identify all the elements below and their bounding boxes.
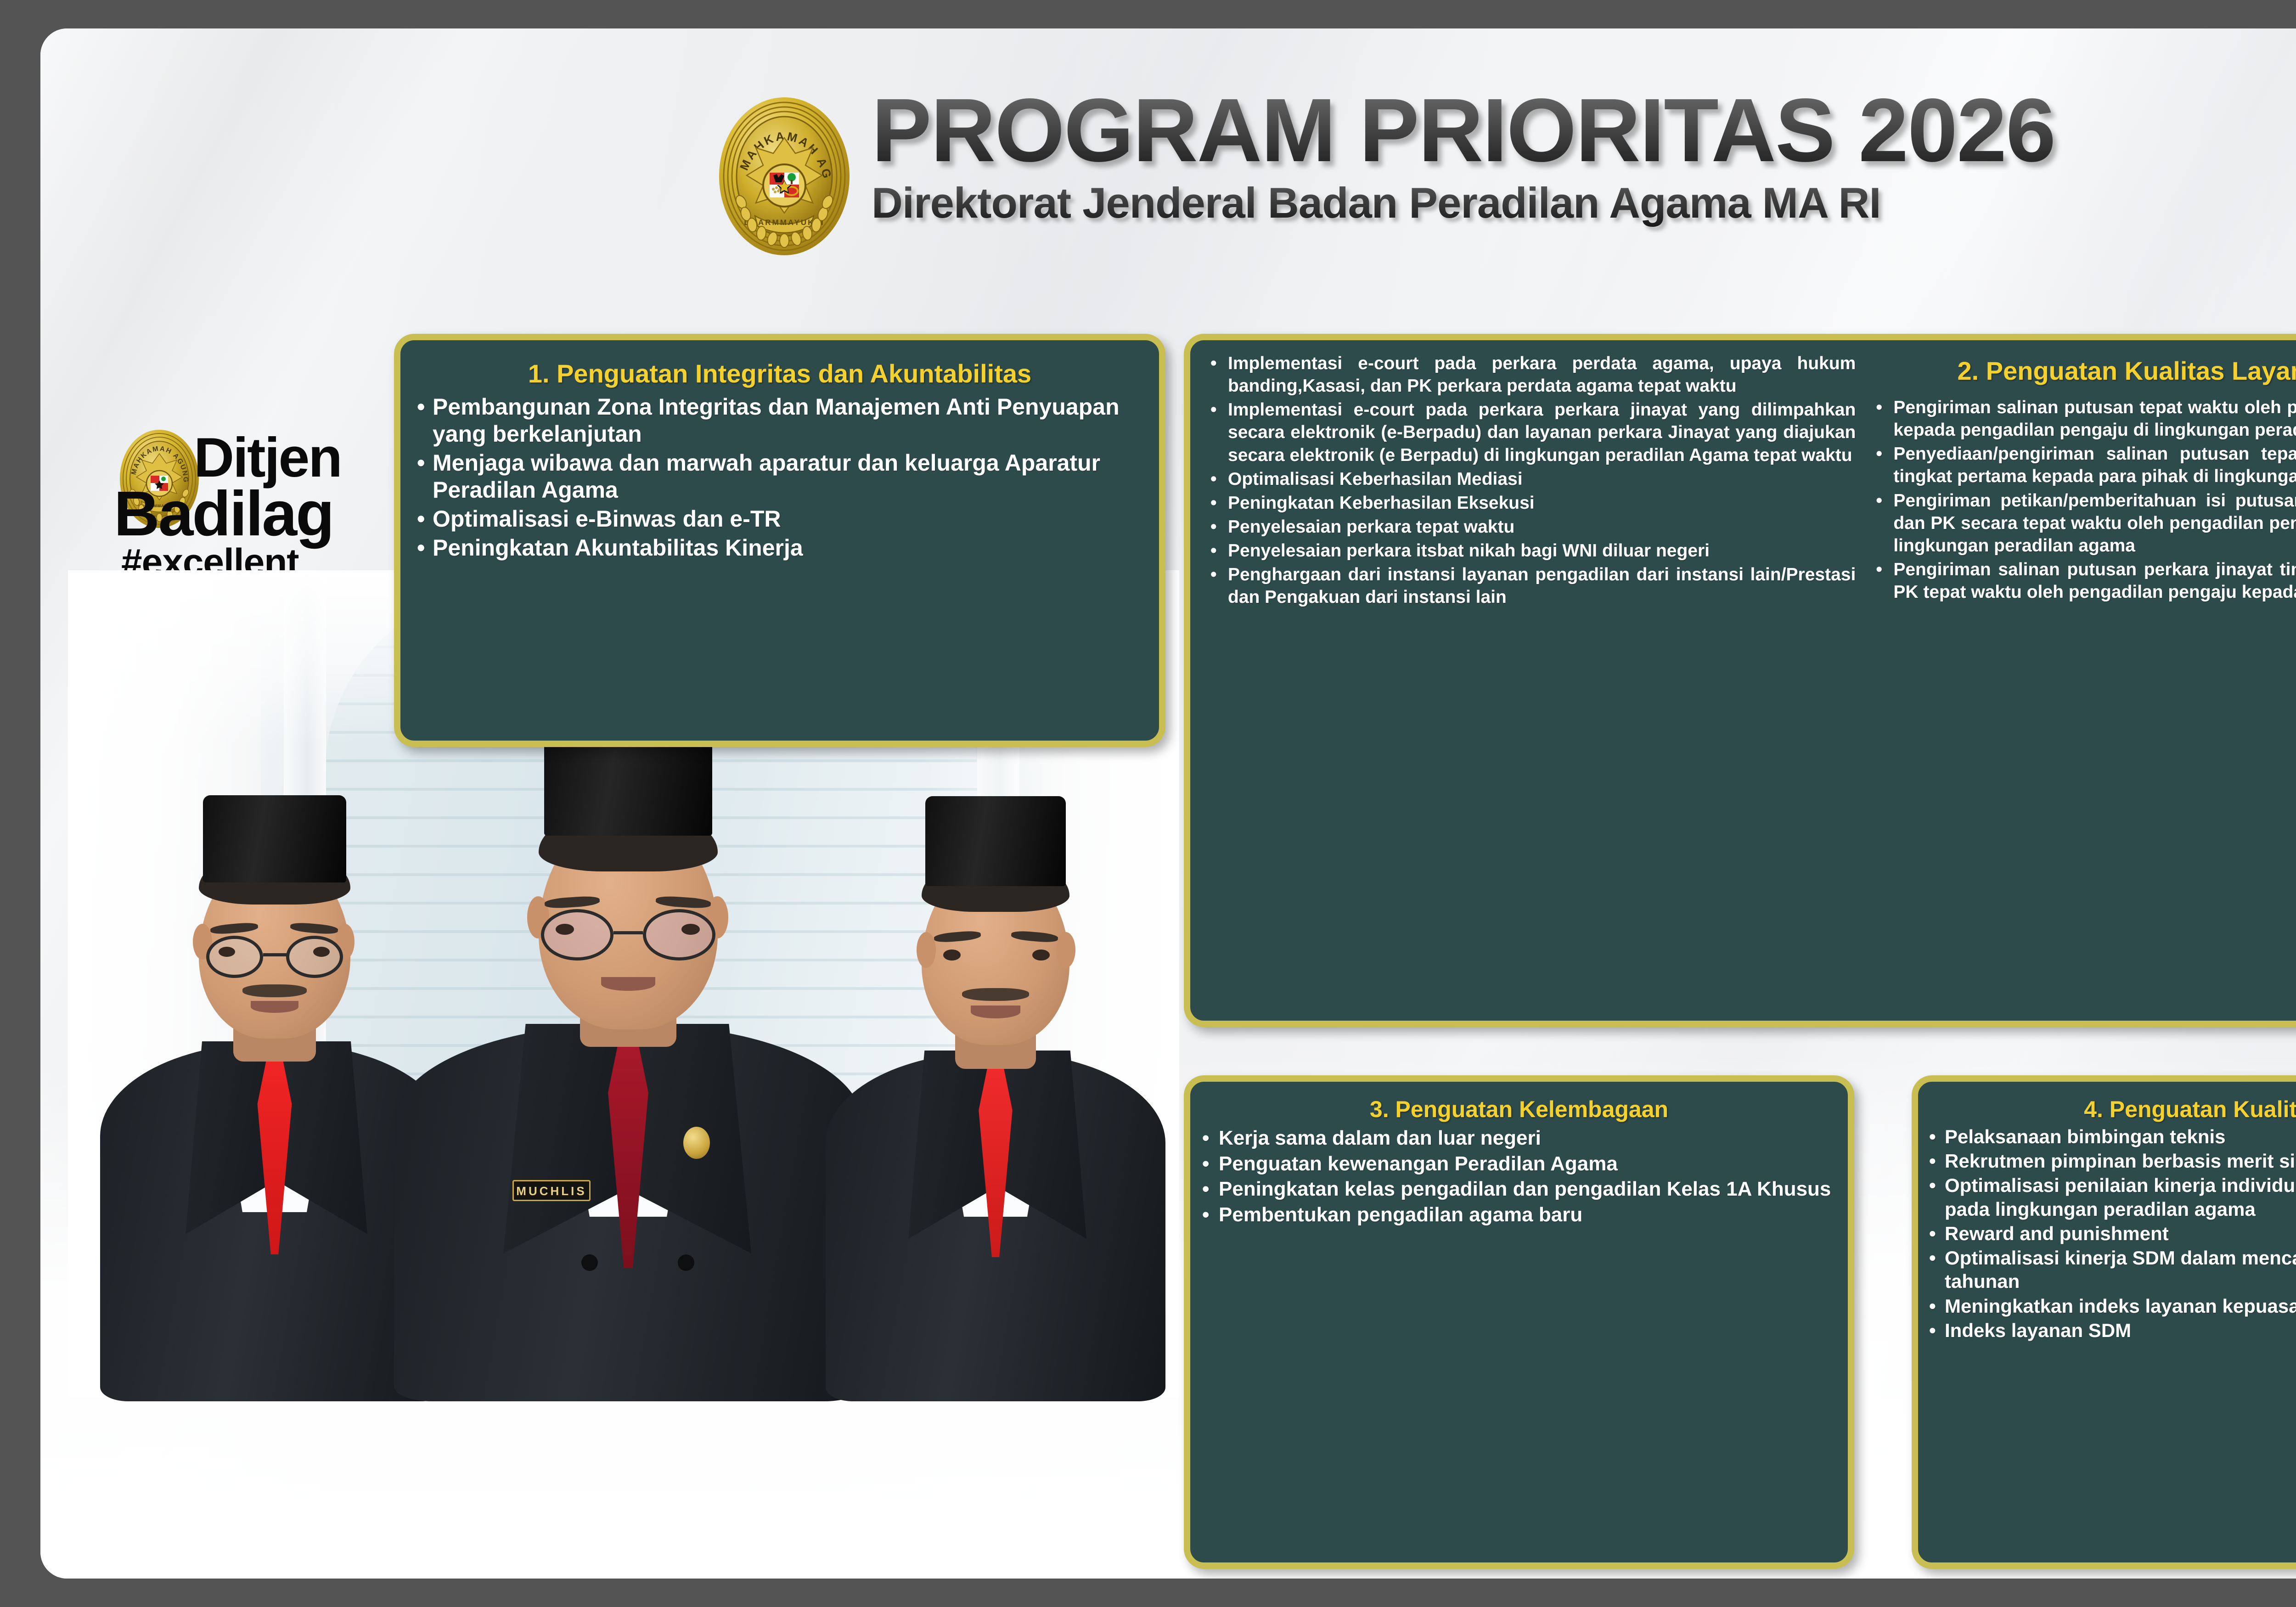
card-2-column-2: Pengiriman salinan putusan tepat waktu o… [1871,352,2296,1011]
header-text-block: PROGRAM PRIORITAS 2026 Direktorat Jender… [872,84,2055,228]
badilag-logo-line-1: Ditjen [194,433,341,482]
card-1-title: 1. Penguatan Integritas dan Akuntabilita… [411,360,1148,387]
nameplate: MUCHLIS [512,1180,591,1201]
card-3-title: 3. Penguatan Kelembagaan [1199,1097,1839,1121]
card-2-bullet-list-1: Implementasi e-court pada perkara perdat… [1228,352,1856,608]
list-item: Optimalisasi Keberhasilan Mediasi [1228,468,1856,490]
list-item: Pelaksanaan bimbingan teknis [1945,1125,2296,1148]
program-card-3[interactable]: 3. Penguatan Kelembagaan Kerja sama dala… [1184,1075,1854,1569]
list-item: Peningkatan Keberhasilan Eksekusi [1228,492,1856,514]
program-card-4[interactable]: 4. Penguatan Kualitas SDM Pelaksanaan bi… [1912,1075,2296,1569]
badilag-logo-line-2: Badilag [114,487,333,541]
program-card-1[interactable]: 1. Penguatan Integritas dan Akuntabilita… [394,334,1165,747]
list-item: Pengiriman salinan putusan perkara jinay… [1893,558,2296,603]
page-title: PROGRAM PRIORITAS 2026 [872,86,2055,174]
list-item: Optimalisasi kinerja SDM dalam mencapai … [1945,1246,2296,1293]
list-item: Menjaga wibawa dan marwah aparatur dan k… [433,450,1143,504]
list-item: Optimalisasi penilaian kinerja individu … [1945,1174,2296,1220]
list-item: Pengiriman petikan/pemberitahuan isi put… [1893,489,2296,557]
card-3-bullet-list: Kerja sama dalam dan luar negeri Penguat… [1219,1126,1836,1227]
page-subtitle: Direktorat Jenderal Badan Peradilan Agam… [872,178,2055,228]
poster-outer-frame: MAHKAMAH AGUNG [0,0,2296,1607]
list-item: Pembentukan pengadilan agama baru [1219,1202,1836,1227]
mahkamah-agung-emblem-icon: MAHKAMAH AGUNG [715,94,853,259]
list-item: Penghargaan dari instansi layanan pengad… [1228,563,1856,608]
card-1-bullet-list: Pembangunan Zona Integritas dan Manajeme… [433,393,1143,562]
card-4-title: 4. Penguatan Kualitas SDM [1927,1097,2296,1121]
list-item: Penyelesaian perkara itsbat nikah bagi W… [1228,539,1856,562]
card-4-bullet-list: Pelaksanaan bimbingan teknis Rekrutmen p… [1945,1125,2296,1342]
list-item: Peningkatan kelas pengadilan dan pengadi… [1219,1177,1836,1202]
list-item: Penyediaan/pengiriman salinan putusan te… [1893,443,2296,488]
list-item: Reward and punishment [1945,1222,2296,1245]
list-item: Kerja sama dalam dan luar negeri [1219,1126,1836,1151]
list-item: Rekrutmen pimpinan berbasis merit sistem [1945,1149,2296,1173]
list-item: Indeks layanan SDM [1945,1319,2296,1342]
program-card-2[interactable]: 2. Penguatan Kualitas Layanan Pengadilan… [1184,334,2296,1027]
list-item: Meningkatkan indeks layanan kepuasan SDM [1945,1294,2296,1318]
list-item: Implementasi e-court pada perkara perkar… [1228,399,1856,466]
poster-canvas: MAHKAMAH AGUNG [40,28,2296,1579]
list-item: Implementasi e-court pada perkara perdat… [1228,352,1856,397]
official-right [821,786,1170,1397]
card-2-bullet-list-2: Pengiriman salinan putusan tepat waktu o… [1893,396,2296,603]
list-item: Penguatan kewenangan Peradilan Agama [1219,1152,1836,1176]
list-item: Optimalisasi e-Binwas dan e-TR [433,506,1143,533]
photo-fade-bottom [68,1424,1179,1579]
poster-header: MAHKAMAH AGUNG [715,84,2296,304]
card-2-column-1: Implementasi e-court pada perkara perdat… [1206,352,1856,1011]
list-item: Pembangunan Zona Integritas dan Manajeme… [433,393,1143,448]
list-item: Peningkatan Akuntabilitas Kinerja [433,534,1143,562]
list-item: Pengiriman salinan putusan tepat waktu o… [1893,396,2296,441]
list-item: Penyelesaian perkara tepat waktu [1228,516,1856,538]
official-center: MUCHLIS [389,722,867,1401]
lapel-pin-icon [683,1127,710,1159]
